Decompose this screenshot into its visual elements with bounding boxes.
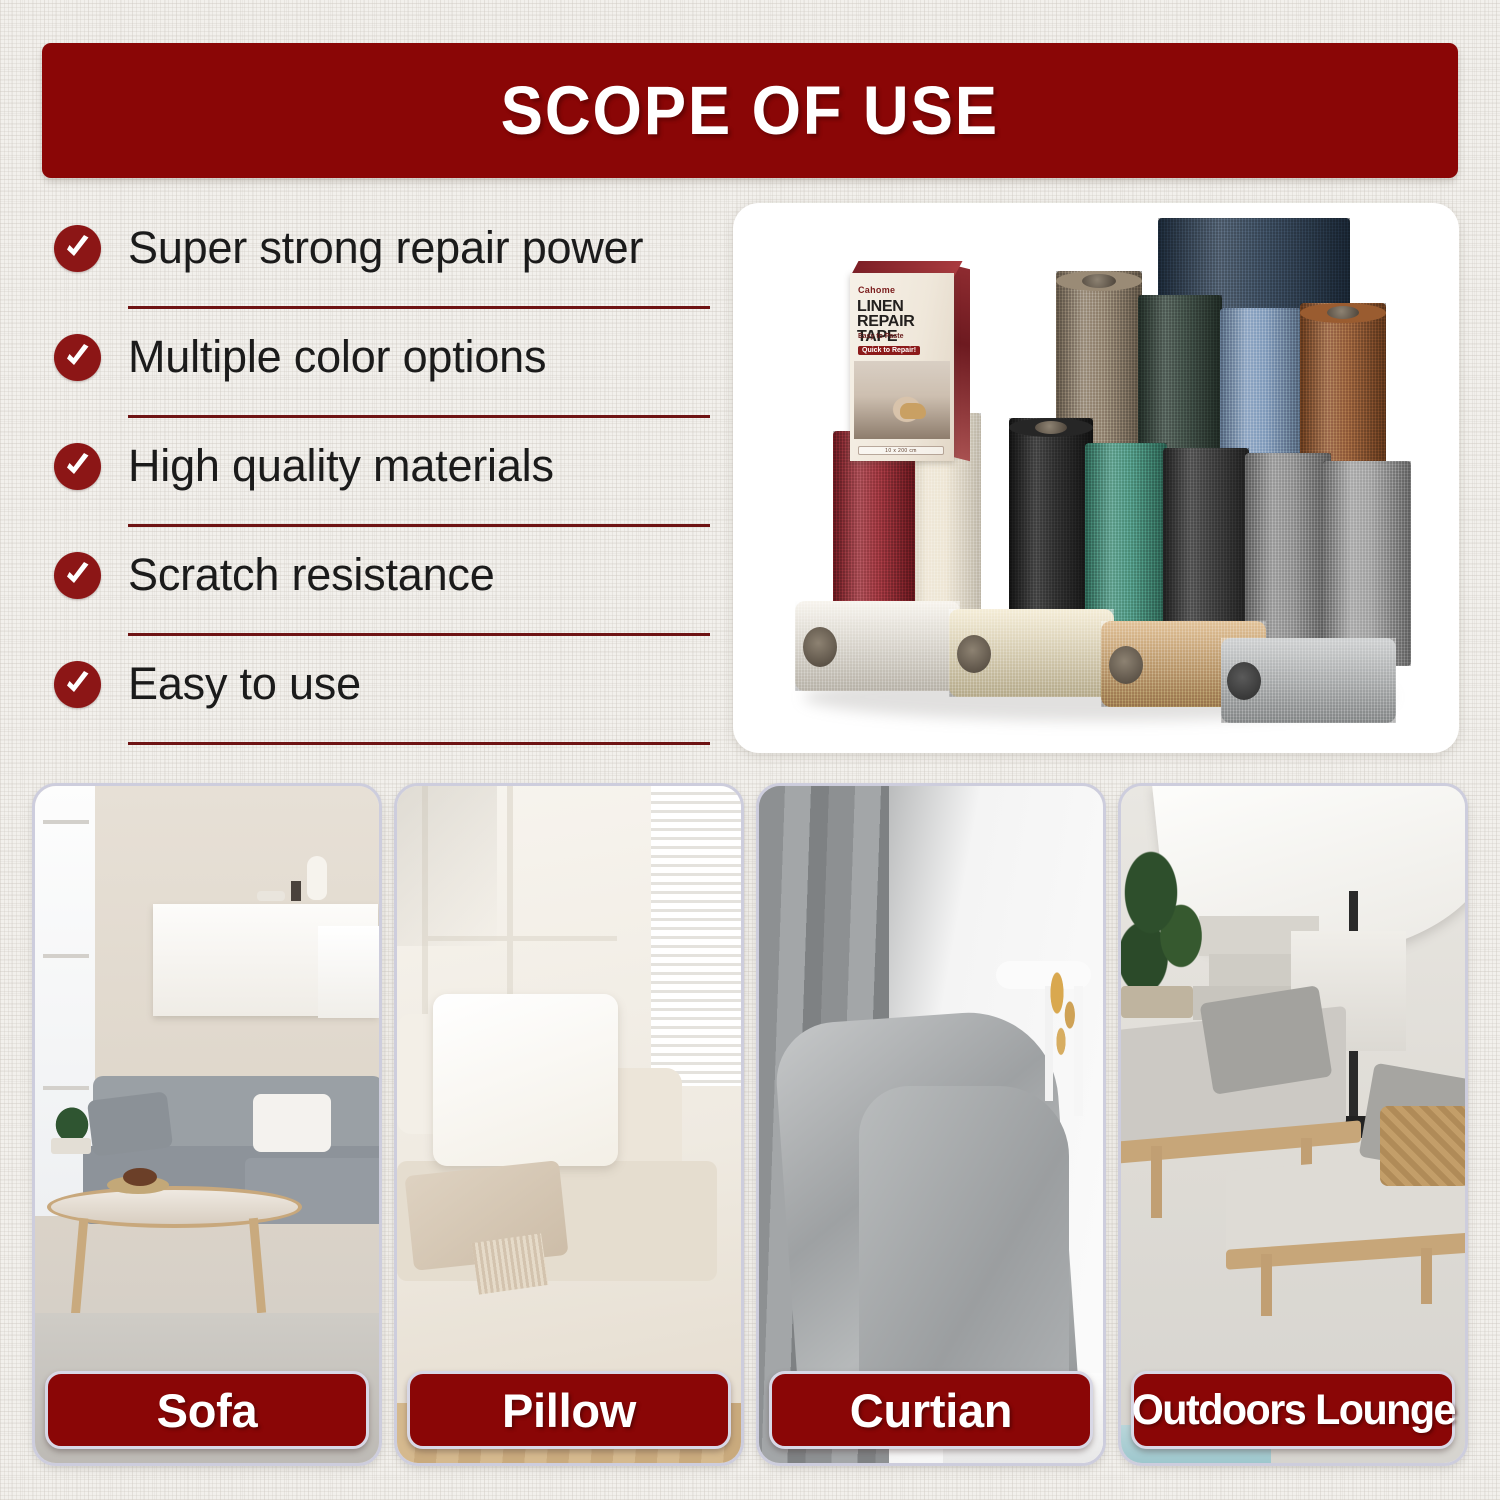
feature-item: Scratch resistance (48, 533, 698, 642)
dog-illustration (900, 403, 926, 419)
roll-lying-beige (949, 609, 1114, 697)
check-circle-icon (54, 552, 101, 599)
box-lifestyle-photo (854, 361, 950, 439)
check-circle-icon (54, 661, 101, 708)
use-case-card-sofa[interactable]: Sofa (32, 783, 382, 1466)
use-case-label: Sofa (157, 1383, 258, 1438)
check-circle-icon (54, 334, 101, 381)
use-case-card-curtain[interactable]: Curtian (756, 783, 1106, 1466)
feature-label: High quality materials (128, 440, 554, 492)
use-case-label: Curtian (850, 1383, 1012, 1438)
roll-lying-grey (1221, 638, 1396, 723)
photo-patio-loungers (1121, 786, 1465, 1463)
label-pill-sofa: Sofa (45, 1371, 369, 1449)
roll-lying-ivory (795, 601, 960, 691)
feature-divider (128, 306, 710, 309)
label-pill-outdoors-lounge: Outdoors Lounge (1131, 1371, 1455, 1449)
label-pill-pillow: Pillow (407, 1371, 731, 1449)
photo-pillow-chair (397, 786, 741, 1463)
use-case-card-outdoors-lounge[interactable]: Outdoors Lounge (1118, 783, 1468, 1466)
photo-curtain (759, 786, 1103, 1463)
product-scene: Cahome LINEN REPAIR TAPE Easy to Paste Q… (733, 203, 1459, 753)
photo-living-room (35, 786, 379, 1463)
box-tagline-2: Quick to Repair! (858, 346, 920, 355)
feature-list: Super strong repair power Multiple color… (48, 206, 698, 751)
box-size-label: 10 x 200 cm (858, 446, 944, 455)
box-tagline-1: Easy to Paste (858, 333, 904, 340)
label-pill-curtain: Curtian (769, 1371, 1093, 1449)
feature-label: Easy to use (128, 658, 361, 710)
use-case-label: Outdoors Lounge (1131, 1386, 1454, 1435)
feature-divider (128, 633, 710, 636)
feature-label: Scratch resistance (128, 549, 495, 601)
product-packaging-box: Cahome LINEN REPAIR TAPE Easy to Paste Q… (840, 261, 968, 466)
box-side-panel (952, 265, 970, 461)
scope-of-use-banner: SCOPE OF USE (42, 43, 1458, 178)
use-case-card-pillow[interactable]: Pillow (394, 783, 744, 1466)
box-front-panel: Cahome LINEN REPAIR TAPE Easy to Paste Q… (850, 273, 954, 461)
feature-item: Super strong repair power (48, 206, 698, 315)
feature-divider (128, 415, 710, 418)
roll-grey-light (1323, 461, 1411, 666)
brand-logo: Cahome (858, 285, 895, 295)
use-case-label: Pillow (502, 1383, 636, 1438)
feature-divider (128, 524, 710, 527)
feature-label: Super strong repair power (128, 222, 643, 274)
product-image-card: Cahome LINEN REPAIR TAPE Easy to Paste Q… (733, 203, 1459, 753)
feature-item: High quality materials (48, 424, 698, 533)
check-circle-icon (54, 225, 101, 272)
feature-label: Multiple color options (128, 331, 546, 383)
page-title: SCOPE OF USE (501, 71, 999, 150)
check-circle-icon (54, 443, 101, 490)
feature-item: Easy to use (48, 642, 698, 751)
feature-divider (128, 742, 710, 745)
feature-item: Multiple color options (48, 315, 698, 424)
use-case-gallery: Sofa Pillow (32, 783, 1468, 1466)
